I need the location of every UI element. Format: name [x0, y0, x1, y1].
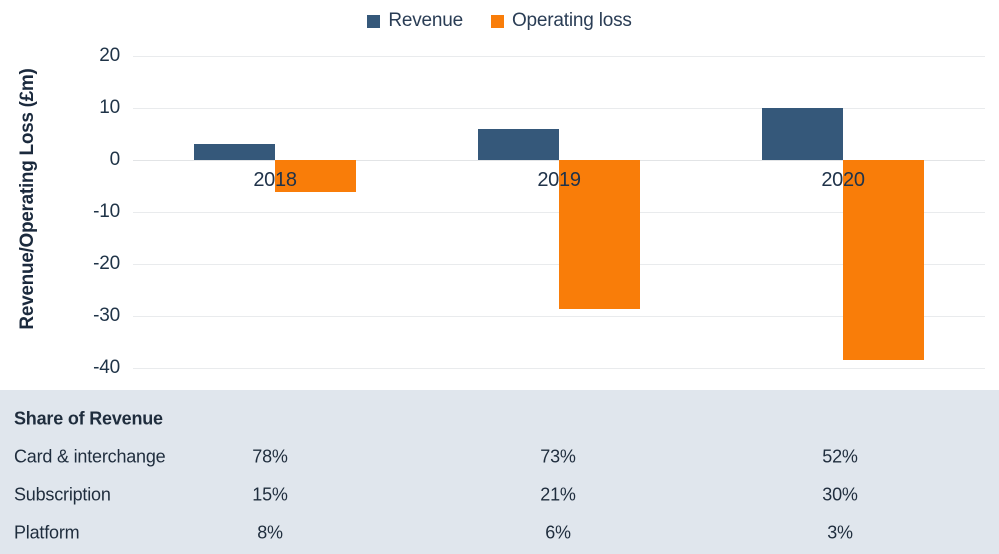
y-axis-tick-label: -10	[62, 201, 120, 223]
table-row-label: Card & interchange	[14, 447, 166, 468]
table-cell-value: 30%	[822, 485, 857, 506]
table-cell-value: 8%	[257, 523, 283, 544]
legend-label: Operating loss	[512, 10, 632, 32]
gridline	[133, 56, 985, 57]
legend-label: Revenue	[388, 10, 463, 32]
table-cell-value: 6%	[545, 523, 571, 544]
y-axis-tick-label: -40	[62, 357, 120, 379]
bar-revenue-2019	[478, 129, 559, 160]
x-axis-category-label: 2019	[537, 169, 580, 192]
table-row: Subscription15%21%30%	[0, 476, 999, 514]
gridline	[133, 108, 985, 109]
table-header-label: Share of Revenue	[14, 409, 163, 430]
plot-area: 201820192020	[133, 36, 985, 385]
y-axis-tick-labels: 20100-10-20-30-40	[62, 36, 120, 385]
bar-chart: Revenue/Operating Loss (£m) 20100-10-20-…	[0, 36, 999, 385]
table-row: Card & interchange78%73%52%	[0, 438, 999, 476]
legend-item-operating-loss: Operating loss	[491, 10, 632, 32]
x-axis-category-label: 2020	[821, 169, 864, 192]
x-axis-category-label: 2018	[253, 169, 296, 192]
legend-item-revenue: Revenue	[367, 10, 463, 32]
share-of-revenue-table: Share of RevenueCard & interchange78%73%…	[0, 390, 999, 554]
table-cell-value: 15%	[252, 485, 287, 506]
square-swatch-icon	[491, 15, 504, 28]
gridline	[133, 368, 985, 369]
square-swatch-icon	[367, 15, 380, 28]
table-row-label: Subscription	[14, 485, 111, 506]
table-cell-value: 21%	[540, 485, 575, 506]
y-axis-tick-label: 10	[62, 97, 120, 119]
table-header-row: Share of Revenue	[0, 400, 999, 438]
y-axis-title: Revenue/Operating Loss (£m)	[17, 29, 39, 369]
table-cell-value: 52%	[822, 447, 857, 468]
y-axis-tick-label: -30	[62, 305, 120, 327]
table-row: Platform8%6%3%	[0, 514, 999, 552]
bar-revenue-2020	[762, 108, 843, 160]
table-cell-value: 78%	[252, 447, 287, 468]
chart-legend: Revenue Operating loss	[0, 6, 999, 36]
table-row-label: Platform	[14, 523, 79, 544]
table-cell-value: 3%	[827, 523, 853, 544]
bar-revenue-2018	[194, 144, 275, 160]
table-cell-value: 73%	[540, 447, 575, 468]
y-axis-tick-label: 0	[62, 149, 120, 171]
y-axis-tick-label: 20	[62, 45, 120, 67]
y-axis-tick-label: -20	[62, 253, 120, 275]
